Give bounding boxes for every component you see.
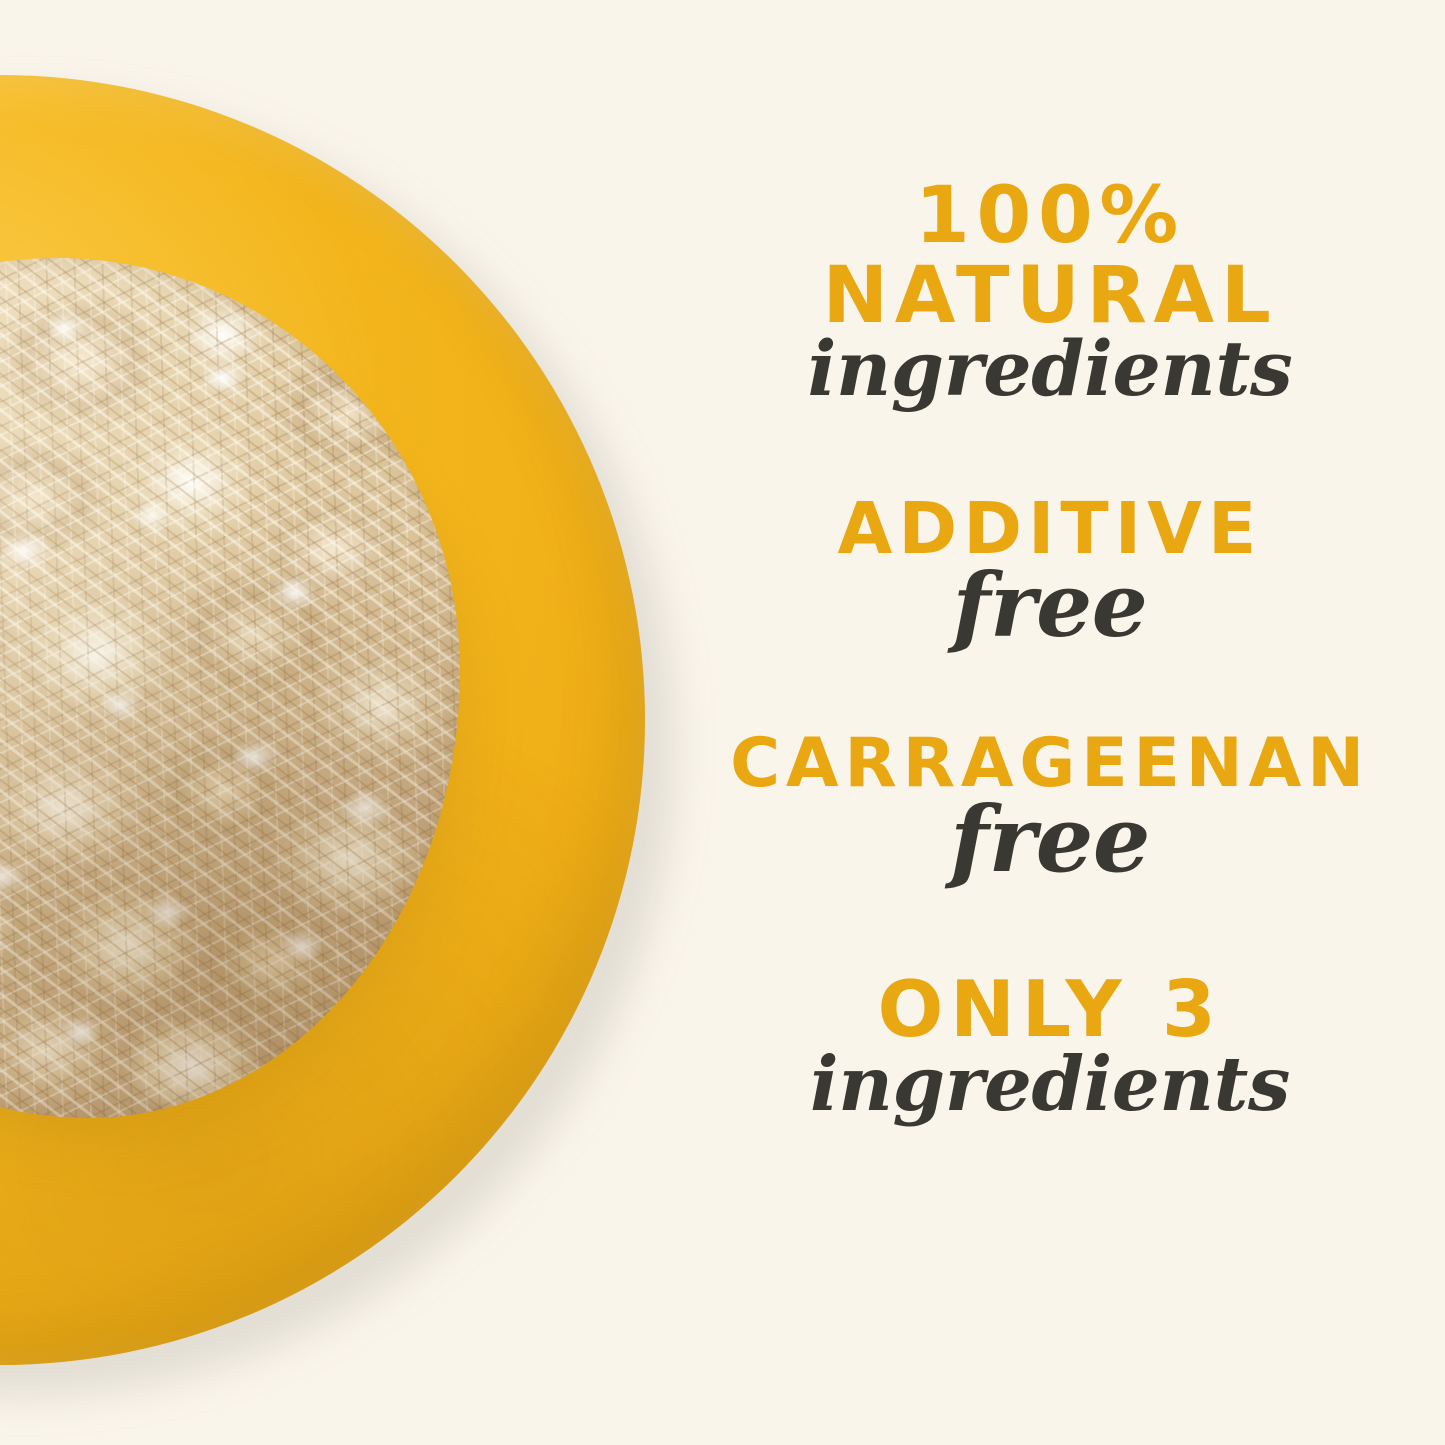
claim-additive-free: ADDITIVE free <box>700 495 1400 649</box>
claims-list: 100% NATURAL ingredients ADDITIVE free C… <box>700 150 1400 1300</box>
claim-2-script: free <box>953 561 1148 649</box>
claim-1-cap-line-2: NATURAL <box>823 258 1278 333</box>
product-feature-graphic: 100% NATURAL ingredients ADDITIVE free C… <box>0 0 1445 1445</box>
claim-1-cap-line-1: 100% <box>915 178 1185 254</box>
claim-4-cap-line-1: ONLY 3 <box>878 973 1223 1047</box>
claim-carrageenan-free: CARRAGEENAN free <box>700 731 1400 885</box>
shredded-chicken-rice <box>0 258 460 1118</box>
claim-natural-ingredients: 100% NATURAL ingredients <box>700 178 1400 407</box>
claim-3-script: free <box>950 795 1150 886</box>
claim-4-script: ingredients <box>810 1046 1290 1121</box>
claim-only-3-ingredients: ONLY 3 ingredients <box>700 973 1400 1121</box>
claim-1-script: ingredients <box>808 331 1293 407</box>
food-mound <box>0 258 470 1138</box>
